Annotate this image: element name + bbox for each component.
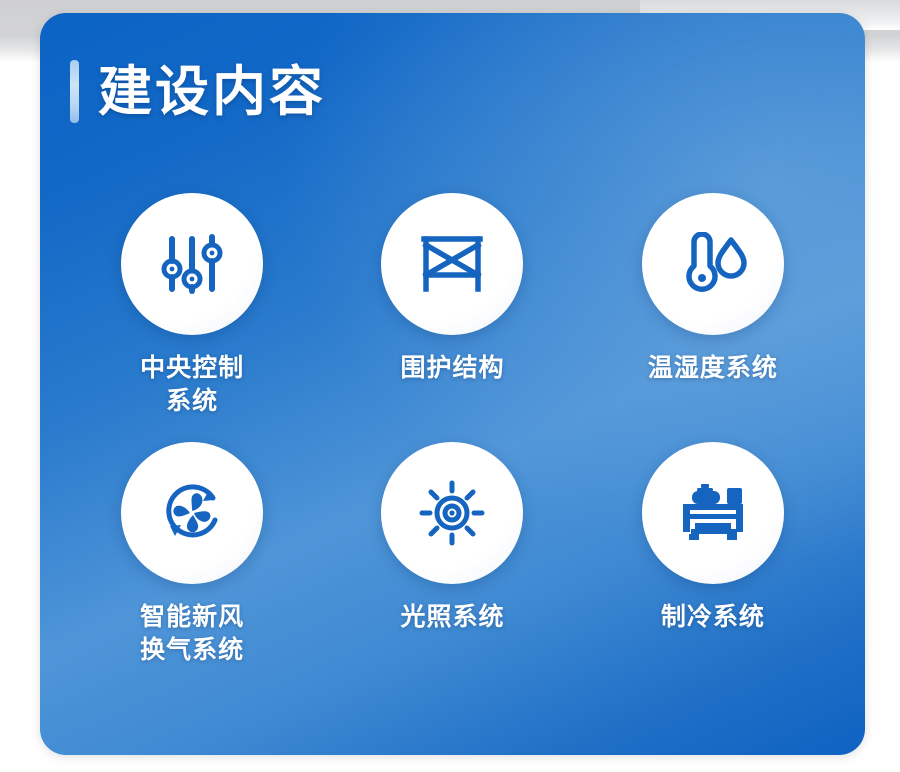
thermometer-humidity-icon <box>678 232 748 296</box>
icon-circle <box>642 193 784 335</box>
feature-label: 温湿度系统 <box>648 351 778 384</box>
feature-label: 制冷系统 <box>661 600 765 633</box>
feature-item-central-control[interactable]: 中央控制 系统 <box>62 193 322 418</box>
feature-item-temp-humidity[interactable]: 温湿度系统 <box>583 193 843 418</box>
accent-bar <box>70 60 79 123</box>
feature-label: 围护结构 <box>400 351 504 384</box>
feature-item-lighting[interactable]: 光照系统 <box>322 442 582 667</box>
feature-item-refrigeration[interactable]: 制冷系统 <box>583 442 843 667</box>
scaffold-frame-icon <box>418 233 486 295</box>
icon-circle <box>121 442 263 584</box>
construction-content-card: 建设内容 <box>40 13 865 755</box>
icon-circle <box>381 193 523 335</box>
page-root: 建设内容 <box>0 0 900 772</box>
feature-item-fresh-air[interactable]: 智能新风 换气系统 <box>62 442 322 667</box>
sun-light-icon <box>418 479 486 547</box>
card-header: 建设内容 <box>70 60 326 123</box>
feature-grid: 中央控制 系统 围护结构 <box>62 193 843 666</box>
feature-item-enclosure-structure[interactable]: 围护结构 <box>322 193 582 418</box>
feature-label: 智能新风 换气系统 <box>140 600 244 667</box>
icon-circle <box>121 193 263 335</box>
feature-label: 中央控制 系统 <box>140 351 244 418</box>
feature-label: 光照系统 <box>400 600 504 633</box>
icon-circle <box>642 442 784 584</box>
sliders-control-icon <box>159 231 225 297</box>
refrigeration-unit-icon <box>675 482 751 544</box>
page-title: 建设内容 <box>98 65 326 119</box>
icon-circle <box>381 442 523 584</box>
fan-ventilation-icon <box>157 478 227 548</box>
